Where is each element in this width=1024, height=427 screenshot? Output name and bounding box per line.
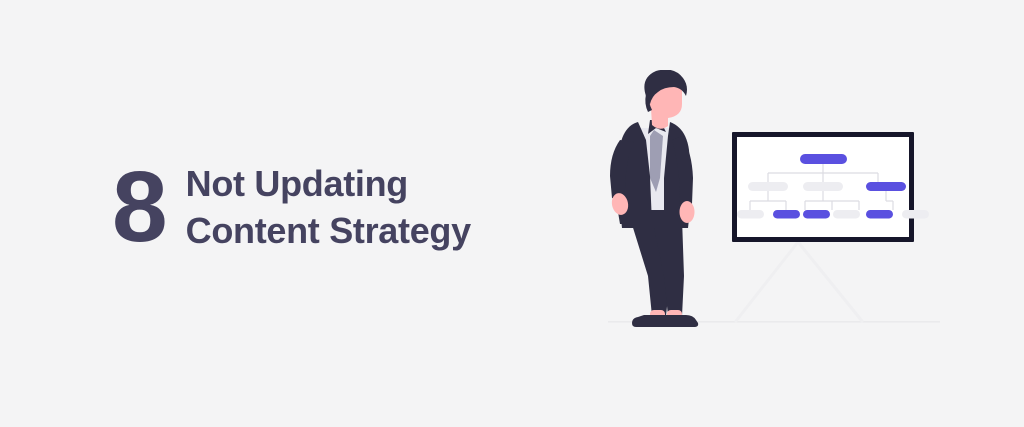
diagram-node-l1-c — [866, 182, 906, 191]
page-title-line-1: Not Updating — [186, 161, 471, 207]
page-title: Not Updating Content Strategy — [186, 161, 471, 253]
slide-canvas: 8 Not Updating Content Strategy — [0, 0, 1024, 427]
presentation-board — [732, 132, 929, 242]
diagram-node-l2-f — [902, 210, 929, 219]
diagram-node-l2-e — [866, 210, 893, 219]
diagram-node-l2-c — [803, 210, 830, 219]
board-stand — [736, 242, 862, 321]
illustration — [590, 70, 950, 340]
diagram-node-l1-a — [748, 182, 788, 191]
diagram-node-l2-d — [833, 210, 860, 219]
item-number: 8 — [112, 160, 166, 255]
person-hips — [620, 210, 690, 228]
standing-businessman — [610, 70, 698, 327]
person-hand-front — [680, 201, 695, 223]
diagram-node-root — [800, 154, 847, 164]
diagram-node-l1-b — [803, 182, 843, 191]
diagram-node-l2-a — [737, 210, 764, 219]
diagram-node-l2-b — [773, 210, 800, 219]
page-title-line-2: Content Strategy — [186, 208, 471, 254]
headline-block: 8 Not Updating Content Strategy — [112, 160, 471, 255]
